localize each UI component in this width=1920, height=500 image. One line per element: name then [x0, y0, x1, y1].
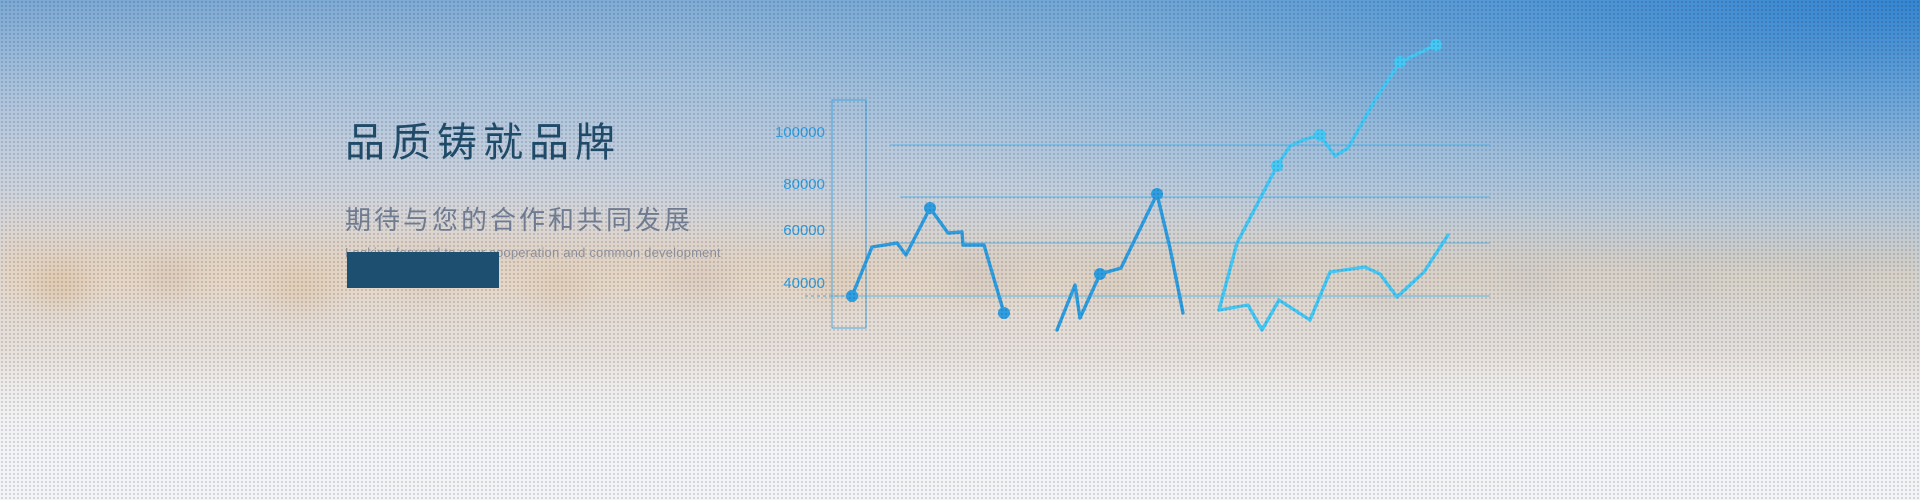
hero-banner: 100000800006000040000 品质铸就品牌 期待与您的合作和共同发…	[0, 0, 1920, 500]
subtitle-chinese: 期待与您的合作和共同发展	[345, 200, 965, 237]
hero-text-block: 品质铸就品牌 期待与您的合作和共同发展 Looking forward to y…	[345, 118, 965, 260]
cta-button[interactable]	[347, 252, 499, 288]
page-title: 品质铸就品牌	[345, 118, 965, 168]
